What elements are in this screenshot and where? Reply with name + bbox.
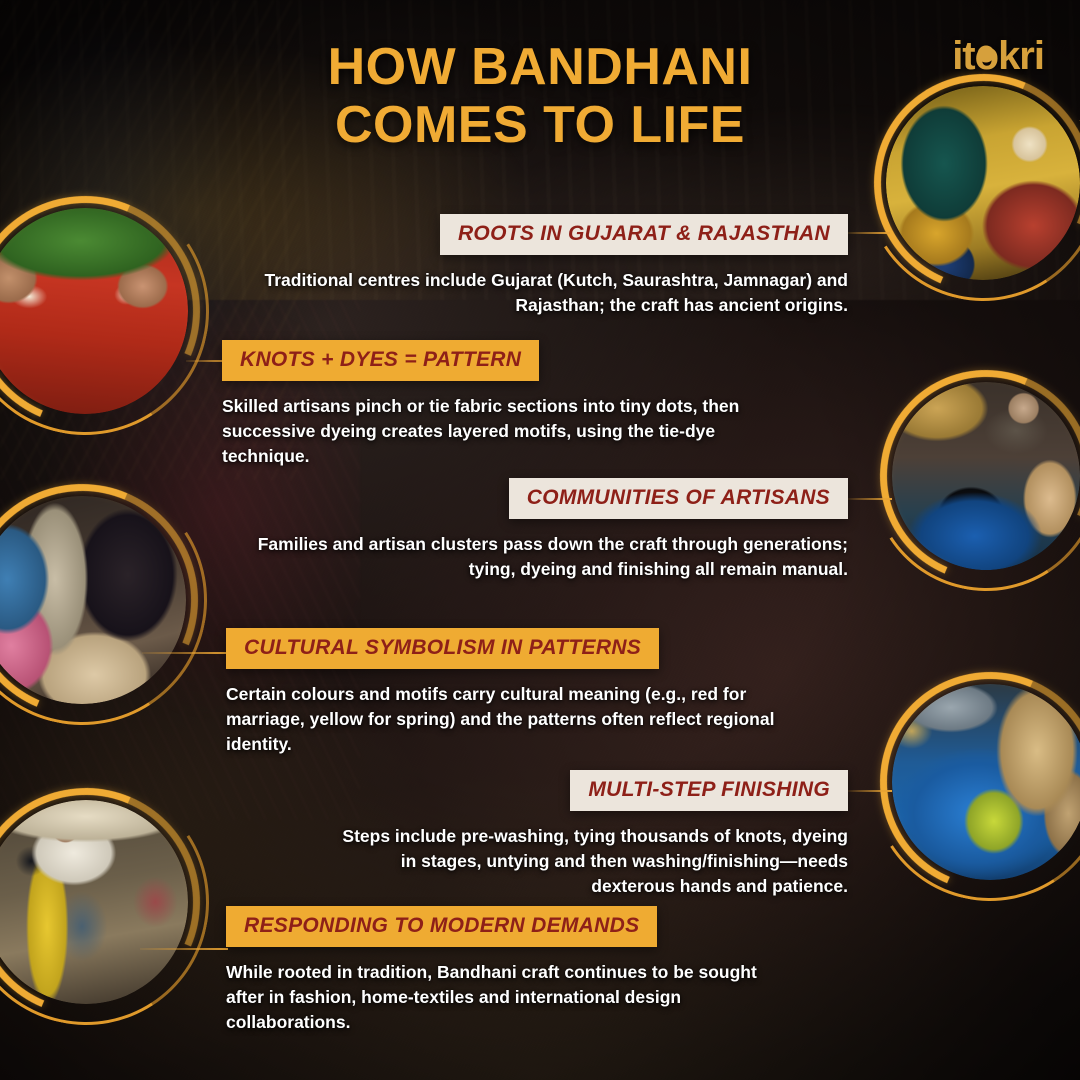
connector-tick-1 bbox=[846, 232, 890, 234]
page-title-line-1: HOW BANDHANI bbox=[0, 38, 1080, 96]
photo-blue-dye-vat-image bbox=[892, 684, 1080, 880]
section-roots-in-gujarat-rajasthan: ROOTS IN GUJARAT & RAJASTHAN Traditional… bbox=[252, 214, 848, 318]
section-communities-of-artisans: COMMUNITIES OF ARTISANS Families and art… bbox=[242, 478, 848, 582]
section-2-heading: KNOTS + DYES = PATTERN bbox=[222, 340, 539, 381]
section-6-heading: RESPONDING TO MODERN DEMANDS bbox=[226, 906, 657, 947]
section-knots-dyes-pattern: KNOTS + DYES = PATTERN Skilled artisans … bbox=[222, 340, 752, 469]
section-5-body: Steps include pre-washing, tying thousan… bbox=[322, 824, 848, 899]
connector-tick-3 bbox=[848, 498, 892, 500]
section-1-heading: ROOTS IN GUJARAT & RAJASTHAN bbox=[440, 214, 848, 255]
photo-blue-dye-vat bbox=[892, 684, 1080, 880]
logo-dot-icon: o bbox=[975, 36, 998, 76]
connector-tick-4 bbox=[142, 652, 228, 654]
section-responding-to-modern-demands: RESPONDING TO MODERN DEMANDS While roote… bbox=[226, 906, 786, 1035]
section-4-heading: CULTURAL SYMBOLISM IN PATTERNS bbox=[226, 628, 659, 669]
connector-tick-5 bbox=[848, 790, 892, 792]
infographic-poster: HOW BANDHANI COMES TO LIFE itokri bbox=[0, 0, 1080, 1080]
photo-dyer-at-blue-tub bbox=[892, 382, 1080, 570]
section-5-heading: MULTI-STEP FINISHING bbox=[570, 770, 848, 811]
section-3-body: Families and artisan clusters pass down … bbox=[242, 532, 848, 582]
logo-text-part-2: kri bbox=[998, 36, 1044, 76]
photo-women-tying-knots-image bbox=[886, 86, 1080, 280]
section-multi-step-finishing: MULTI-STEP FINISHING Steps include pre-w… bbox=[322, 770, 848, 899]
section-6-body: While rooted in tradition, Bandhani craf… bbox=[226, 960, 786, 1035]
photo-women-tying-knots bbox=[886, 86, 1080, 280]
section-2-body: Skilled artisans pinch or tie fabric sec… bbox=[222, 394, 752, 469]
itokri-logo[interactable]: itokri bbox=[952, 36, 1044, 76]
section-4-body: Certain colours and motifs carry cultura… bbox=[226, 682, 786, 757]
logo-text-part-1: it bbox=[952, 36, 974, 76]
section-3-heading: COMMUNITIES OF ARTISANS bbox=[509, 478, 848, 519]
section-1-body: Traditional centres include Gujarat (Kut… bbox=[252, 268, 848, 318]
section-cultural-symbolism-in-patterns: CULTURAL SYMBOLISM IN PATTERNS Certain c… bbox=[226, 628, 786, 757]
connector-tick-6 bbox=[140, 948, 228, 950]
photo-dyer-at-blue-tub-image bbox=[892, 382, 1080, 570]
